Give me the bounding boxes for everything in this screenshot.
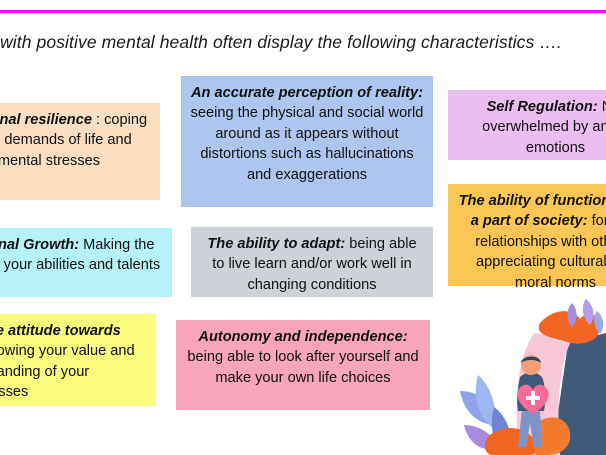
- characteristic-card-resilience: Emotional resilience : coping with the d…: [0, 103, 160, 200]
- characteristic-card-self-regulation: Self Regulation: Not overwhelmed by angr…: [448, 90, 606, 160]
- card-lead-adapt: The ability to adapt:: [207, 236, 345, 252]
- orange-ground-icon: [485, 428, 538, 455]
- figure-legs-icon: [518, 409, 542, 447]
- leaf-icon: [464, 425, 500, 450]
- card-body-attitude: : knowing your value and understanding o…: [0, 343, 135, 400]
- leaf-icon: [568, 303, 577, 327]
- navy-shape-icon: [552, 333, 606, 455]
- card-lead-personal-growth: Personal Growth:: [0, 237, 79, 253]
- leaf-icon: [583, 299, 594, 325]
- card-lead-society: The ability of functioning as a part of …: [459, 193, 606, 229]
- characteristic-card-society: The ability of functioning as a part of …: [448, 184, 606, 286]
- accent-rule: [0, 10, 606, 13]
- characteristic-card-adapt: The ability to adapt: being able to live…: [191, 227, 433, 297]
- characteristic-card-autonomy: Autonomy and independence: being able to…: [176, 320, 430, 410]
- card-body-perception: seeing the physical and social world aro…: [191, 105, 424, 182]
- figure-head-icon: [521, 355, 541, 375]
- orange-ground-icon: [533, 417, 570, 455]
- card-lead-perception: An accurate perception of reality:: [191, 85, 423, 101]
- heart-icon: [517, 385, 548, 413]
- card-lead-self-regulation: Self Regulation:: [487, 99, 598, 115]
- card-lead-resilience: Emotional resilience: [0, 112, 92, 128]
- figure-hair-icon: [521, 357, 541, 363]
- leaf-icon: [476, 375, 495, 429]
- blush-swoosh-icon: [517, 333, 572, 455]
- card-lead-autonomy: Autonomy and independence:: [198, 329, 407, 345]
- slide-canvas: People with positive mental health often…: [0, 0, 606, 455]
- wellbeing-illustration: [456, 295, 606, 455]
- leaf-icon: [594, 311, 603, 334]
- card-body-autonomy: being able to look after yourself and ma…: [187, 349, 418, 385]
- characteristic-card-perception: An accurate perception of reality: seein…: [181, 76, 433, 207]
- page-title: People with positive mental health often…: [0, 32, 600, 53]
- characteristic-card-attitude: Positive attitude towards self: knowing …: [0, 314, 156, 406]
- figure-torso-icon: [517, 373, 545, 412]
- medical-cross-icon: [526, 391, 540, 405]
- leaf-icon: [492, 407, 511, 455]
- characteristic-card-personal-growth: Personal Growth: Making the most of your…: [0, 228, 172, 297]
- leaf-icon: [460, 391, 500, 425]
- orange-blob-icon: [539, 311, 600, 344]
